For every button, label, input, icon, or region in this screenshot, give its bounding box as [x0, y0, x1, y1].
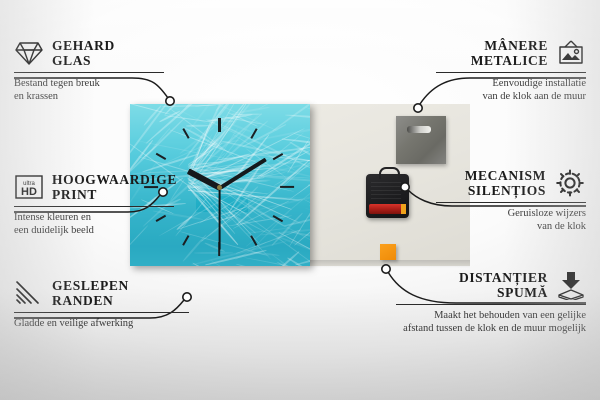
feature-title: DISTANȚIER SPUMĂ — [459, 270, 548, 300]
metal-hanger-plate — [396, 116, 446, 164]
feature-geslepen-randen: GESLEPEN RANDEN Gladde en veilige afwerk… — [14, 278, 189, 330]
battery — [369, 204, 405, 214]
clock-tick — [280, 186, 294, 188]
feature-divider — [436, 202, 586, 203]
feature-mecanism-silentios: MECANISM SILENȚIOS Geruisloze wijzers va… — [436, 168, 586, 233]
feature-gehard-glas: GEHARD GLAS Bestand tegen breuk en krass… — [14, 38, 164, 103]
movement-grill — [371, 182, 401, 200]
infographic-canvas: GEHARD GLAS Bestand tegen breuk en krass… — [0, 0, 600, 400]
clock-center-cap — [217, 185, 222, 190]
movement-hanging-loop — [379, 167, 400, 179]
feature-title: HOOGWAARDIGE PRINT — [52, 172, 177, 202]
feature-hoogwaardige-print: ultra HD HOOGWAARDIGE PRINT Intense kleu… — [14, 172, 174, 237]
second-hand — [219, 188, 221, 250]
feature-desc: Gladde en veilige afwerking — [14, 317, 189, 330]
picture-frame-hanging-icon — [556, 39, 586, 67]
feature-title: MÂNERE METALICE — [471, 38, 548, 68]
ultra-hd-large-label: HD — [21, 186, 37, 198]
ultra-hd-icon: ultra HD — [14, 174, 44, 200]
feature-desc: Geruisloze wijzers van de klok — [436, 207, 586, 233]
feature-title: MECANISM SILENȚIOS — [465, 168, 546, 198]
feature-divider — [14, 206, 174, 207]
spacer-arrow-icon — [556, 270, 586, 300]
wall-shadow — [308, 260, 470, 268]
feature-title: GESLEPEN RANDEN — [52, 278, 129, 308]
feature-divider — [436, 72, 586, 73]
clock-tick — [218, 118, 220, 132]
product-photo — [130, 104, 470, 270]
feature-desc: Intense kleuren en een duidelijk beeld — [14, 211, 174, 237]
feature-divider — [14, 312, 189, 313]
feature-divider — [396, 304, 586, 305]
feature-desc: Bestand tegen breuk en krassen — [14, 77, 164, 103]
gear-icon — [554, 168, 586, 198]
feature-manere-metalice: MÂNERE METALICE Eenvoudige installatie v… — [436, 38, 586, 103]
foam-spacer — [380, 244, 396, 260]
feature-distantier-spuma: DISTANȚIER SPUMĂ Maakt het behouden van … — [396, 270, 586, 335]
feature-desc: Maakt het behouden van een gelijke afsta… — [396, 309, 586, 335]
diamond-icon — [14, 40, 44, 66]
hanger-slot — [407, 126, 431, 133]
beveled-edges-icon — [14, 280, 44, 306]
quartz-movement — [366, 174, 409, 218]
feature-desc: Eenvoudige installatie van de klok aan d… — [436, 77, 586, 103]
feature-divider — [14, 72, 164, 73]
feature-title: GEHARD GLAS — [52, 38, 115, 68]
